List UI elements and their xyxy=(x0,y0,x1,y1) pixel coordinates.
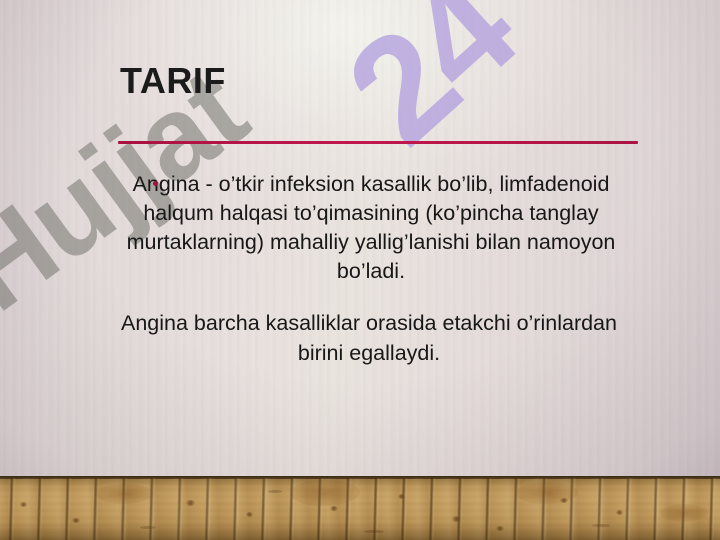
slide-background-floor xyxy=(0,476,720,540)
floor-wood-grain xyxy=(0,478,720,540)
body-paragraph-text: Angina - o’tkir infeksion kasallik bo’li… xyxy=(127,172,616,283)
title-divider-line xyxy=(118,141,638,144)
presentation-slide: Hujjat 24 TARIF Angina - o’tkir infeksio… xyxy=(0,0,720,540)
body-paragraph-text: Angina barcha kasalliklar orasida etakch… xyxy=(121,311,617,365)
slide-body: Angina - o’tkir infeksion kasallik bo’li… xyxy=(120,170,618,368)
bullet-dot-icon xyxy=(153,181,158,186)
body-paragraph: Angina - o’tkir infeksion kasallik bo’li… xyxy=(120,170,618,286)
body-paragraph: Angina barcha kasalliklar orasida etakch… xyxy=(120,308,618,368)
slide-title: TARIF xyxy=(120,60,226,102)
